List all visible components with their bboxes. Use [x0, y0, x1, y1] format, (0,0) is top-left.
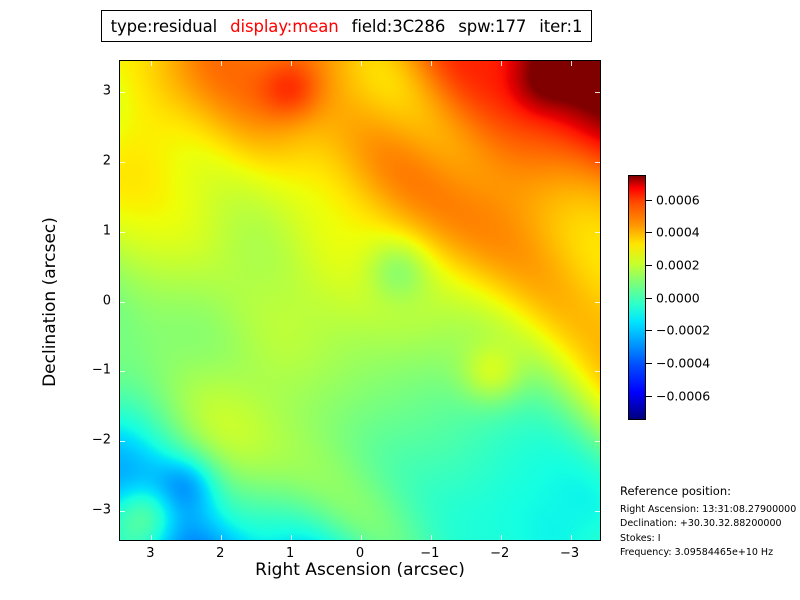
header-item-0: type:residual [111, 17, 218, 36]
reference-line-1: Declination: +30.30.32.88200000 [620, 517, 800, 531]
colorbar-tick-mark-6 [646, 396, 652, 397]
colorbar-tick-mark-5 [646, 363, 652, 364]
colorbar-tick-mark-0 [646, 200, 652, 201]
reference-position-block: Reference position: Right Ascension: 13:… [620, 484, 800, 561]
reference-line-2: Stokes: I [620, 532, 800, 546]
y-tick-label-1: 2 [103, 154, 111, 169]
header-item-4: iter:1 [539, 17, 582, 36]
colorbar-gradient[interactable] [628, 175, 646, 420]
colorbar-tick-label-6: −0.0006 [656, 388, 710, 403]
x-tick-label-5: −2 [490, 546, 509, 561]
colorbar-tick-mark-1 [646, 232, 652, 233]
y-tick-label-5: −2 [92, 432, 111, 447]
y-tick-label-0: 3 [103, 84, 111, 99]
x-tick-label-2: 1 [286, 546, 294, 561]
reference-line-0: Right Ascension: 13:31:08.27900000 [620, 503, 800, 517]
reference-line-3: Frequency: 3.09584465e+10 Hz [620, 546, 800, 560]
colorbar-tick-mark-4 [646, 330, 652, 331]
colorbar-tick-label-1: 0.0004 [656, 225, 700, 240]
colorbar-tick-label-2: 0.0002 [656, 257, 700, 272]
reference-position-heading: Reference position: [620, 484, 800, 498]
header-item-3: spw:177 [458, 17, 526, 36]
y-tick-label-2: 1 [103, 223, 111, 238]
colorbar-tick-label-3: 0.0000 [656, 290, 700, 305]
x-axis-label: Right Ascension (arcsec) [119, 560, 601, 580]
colorbar-tick-mark-3 [646, 298, 652, 299]
image-header-title-box: type:residualdisplay:meanfield:3C286spw:… [101, 10, 592, 42]
x-tick-label-1: 2 [216, 546, 224, 561]
y-tick-label-6: −3 [92, 502, 111, 517]
x-tick-label-3: 0 [356, 546, 364, 561]
y-tick-label-4: −1 [92, 363, 111, 378]
colorbar-tick-label-5: −0.0004 [656, 355, 710, 370]
header-item-2: field:3C286 [352, 17, 446, 36]
colorbar-tick-mark-2 [646, 265, 652, 266]
residual-heatmap-canvas[interactable] [120, 61, 600, 540]
colorbar-tick-label-0: 0.0006 [656, 192, 700, 207]
x-tick-label-0: 3 [146, 546, 154, 561]
x-tick-label-4: −1 [420, 546, 439, 561]
header-item-1: display:mean [230, 17, 339, 36]
colorbar-tick-label-4: −0.0002 [656, 323, 710, 338]
y-tick-label-3: 0 [103, 293, 111, 308]
residual-image-plot-area[interactable] [119, 60, 601, 541]
y-axis-label: Declination (arcsec) [40, 82, 60, 522]
reference-position-lines: Right Ascension: 13:31:08.27900000Declin… [620, 503, 800, 561]
x-tick-label-6: −3 [560, 546, 579, 561]
